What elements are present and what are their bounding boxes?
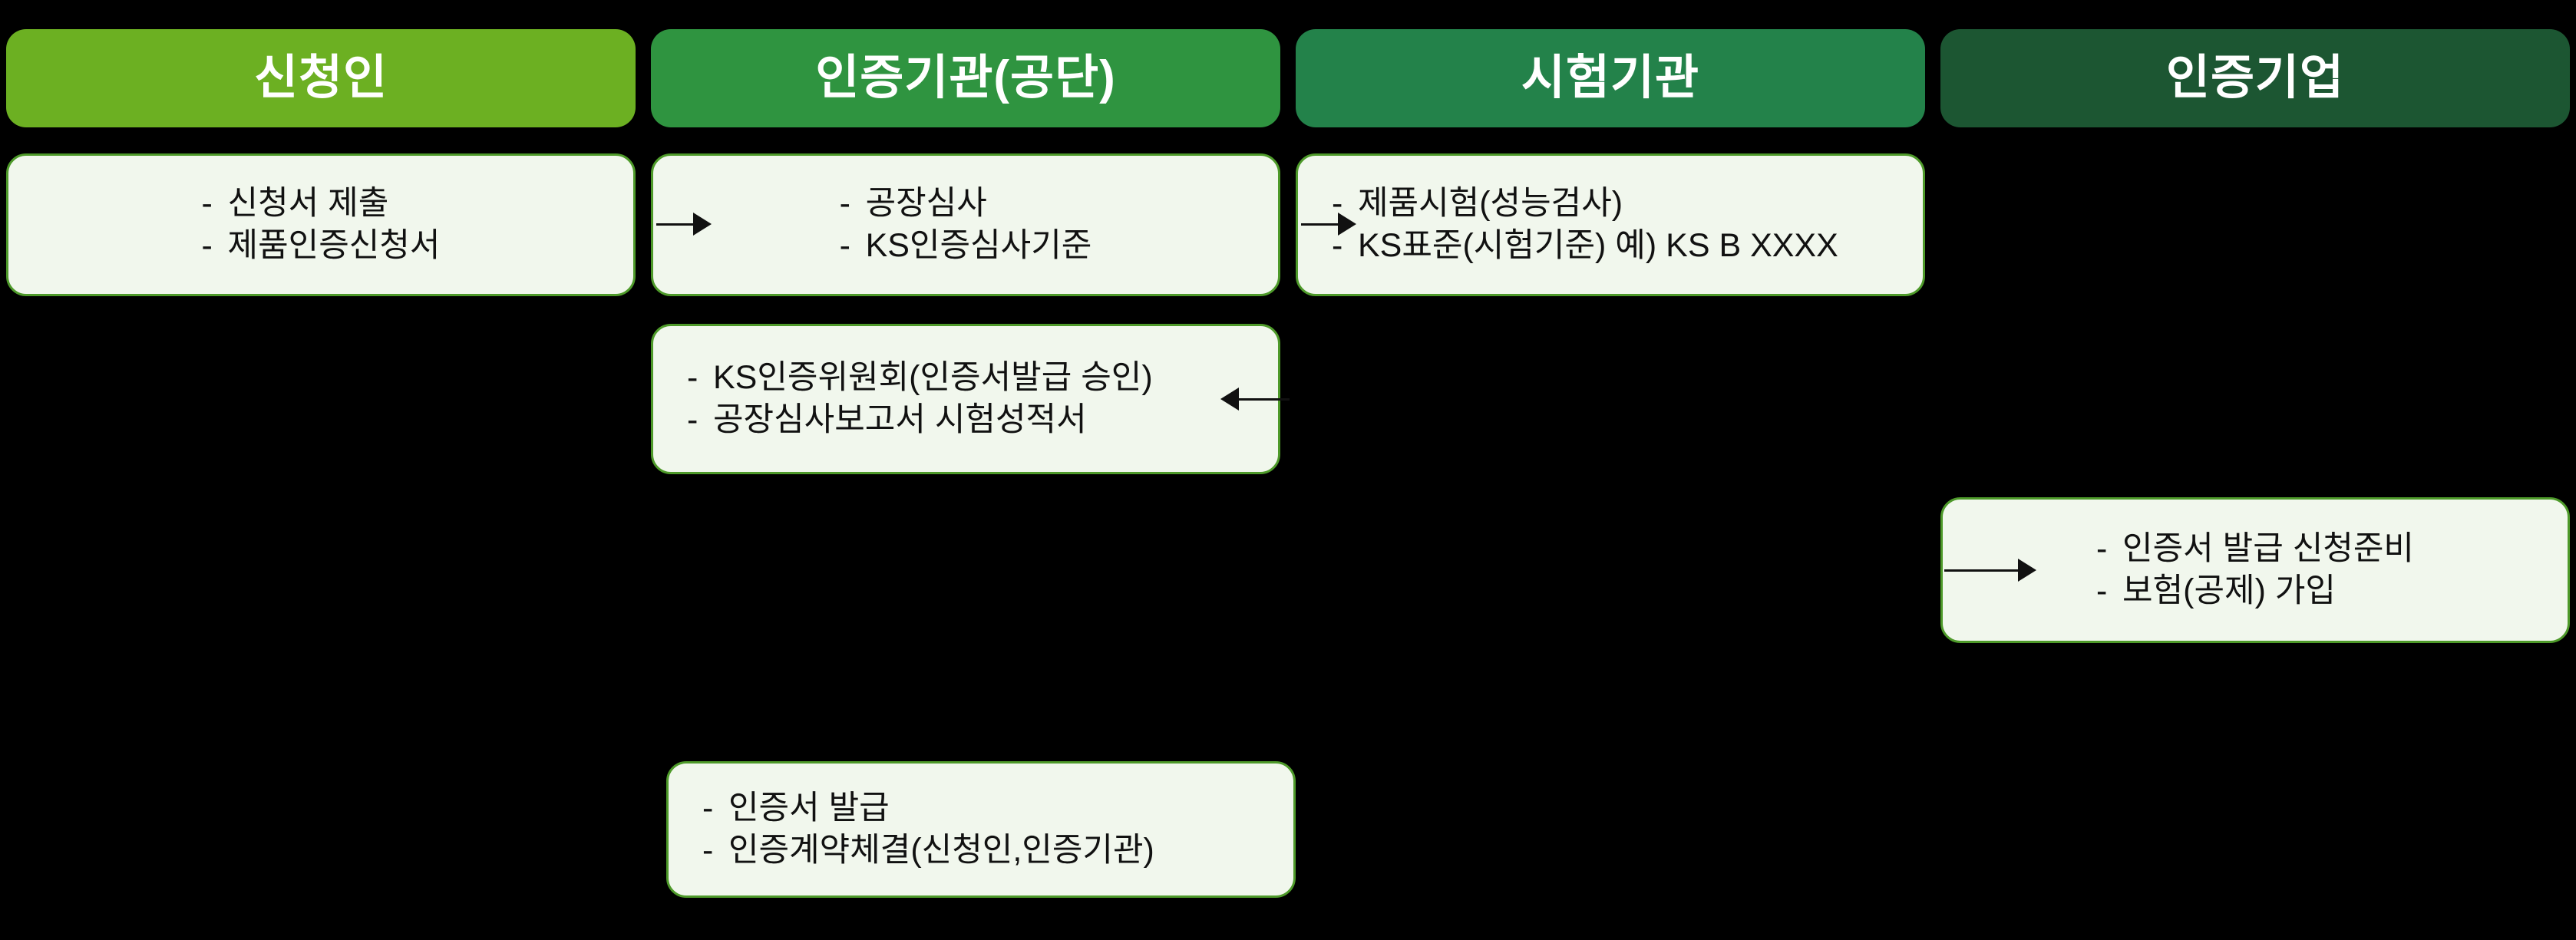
bullet-dash: -: [840, 183, 866, 225]
arrow-shaft: [1944, 569, 2018, 572]
arrow-right-icon-to-certificate-preparation: [1944, 555, 2036, 585]
bullet-dash: -: [2096, 528, 2122, 570]
arrow-head: [2018, 559, 2036, 582]
lane-header-applicant-label: 신청인: [254, 54, 388, 102]
card-certificate-issue-body: -인증서 발급 -인증계약체결(신청인,인증기관): [669, 787, 1293, 872]
bullet-dash: -: [702, 830, 728, 872]
list-item-text: KS인증위원회(인증서발급 승인): [713, 359, 1153, 396]
list-item-text: KS인증심사기준: [866, 227, 1092, 264]
list-item-text: KS표준(시험기준) 예) KS B XXXX: [1358, 227, 1838, 264]
lane-header-test-agency: 시험기관: [1296, 29, 1925, 127]
bullet-dash: -: [2096, 570, 2122, 612]
arrow-left-icon-test-to-committee: [1220, 384, 1290, 414]
bullet-dash: -: [202, 225, 228, 267]
lane-header-cert-company: 인증기업: [1940, 29, 2570, 127]
card-ks-committee: -KS인증위원회(인증서발급 승인) -공장심사보고서 시험성적서: [651, 324, 1280, 474]
bullet-dash: -: [202, 183, 228, 225]
list-item-text: 인증서 발급 신청준비: [2122, 530, 2414, 567]
arrow-shaft: [1239, 398, 1290, 401]
list-item: -공장심사보고서 시험성적서: [687, 399, 1087, 441]
bullet-dash: -: [687, 357, 713, 399]
list-item: -신청서 제출: [202, 183, 441, 225]
list-item-text: 제품인증신청서: [228, 227, 441, 264]
lane-header-applicant: 신청인: [6, 29, 636, 127]
card-application-submission-body: -신청서 제출 -제품인증신청서: [8, 183, 633, 267]
bullet-dash: -: [702, 787, 728, 830]
card-product-test-body: -제품시험(성능검사) -KS표준(시험기준) 예) KS B XXXX: [1298, 183, 1923, 267]
arrow-shaft: [656, 223, 693, 226]
list-item: -KS인증위원회(인증서발급 승인): [687, 357, 1153, 399]
arrow-right-icon-factory-to-test: [1301, 209, 1356, 239]
list-item: -공장심사: [840, 183, 1092, 225]
arrow-right-icon-applicant-to-factory: [656, 209, 712, 239]
card-factory-audit-body: -공장심사 -KS인증심사기준: [653, 183, 1278, 267]
list-item-text: 제품시험(성능검사): [1358, 185, 1623, 222]
card-application-submission: -신청서 제출 -제품인증신청서: [6, 153, 636, 296]
list-item: -인증계약체결(신청인,인증기관): [702, 830, 1154, 872]
arrow-head: [693, 213, 712, 236]
arrow-head: [1220, 388, 1239, 411]
list-item: -보험(공제) 가입: [2096, 570, 2414, 612]
card-factory-audit: -공장심사 -KS인증심사기준: [651, 153, 1280, 296]
list-item: -제품인증신청서: [202, 225, 441, 267]
card-product-test: -제품시험(성능검사) -KS표준(시험기준) 예) KS B XXXX: [1296, 153, 1925, 296]
list-item-text: 보험(공제) 가입: [2122, 572, 2336, 609]
list-item-text: 인증서 발급: [728, 790, 890, 826]
bullet-dash: -: [687, 399, 713, 441]
lane-header-test-agency-label: 시험기관: [1521, 54, 1699, 102]
list-item: -인증서 발급 신청준비: [2096, 528, 2414, 570]
lane-header-cert-company-label: 인증기업: [2166, 54, 2344, 102]
lane-header-cert-agency-label: 인증기관(공단): [815, 54, 1116, 102]
list-item-text: 신청서 제출: [228, 185, 389, 222]
list-item-text: 공장심사: [866, 185, 987, 222]
bullet-dash: -: [840, 225, 866, 267]
arrow-shaft: [1301, 223, 1338, 226]
list-item: -제품시험(성능검사): [1332, 183, 1623, 225]
list-item-text: 인증계약체결(신청인,인증기관): [728, 832, 1154, 869]
list-item: -KS표준(시험기준) 예) KS B XXXX: [1332, 225, 1838, 267]
arrow-head: [1338, 213, 1356, 236]
lane-header-cert-agency: 인증기관(공단): [651, 29, 1280, 127]
list-item: -KS인증심사기준: [840, 225, 1092, 267]
list-item-text: 공장심사보고서 시험성적서: [713, 401, 1087, 438]
diagram-canvas: 신청인 인증기관(공단) 시험기관 인증기업 -신청서 제출 -제품인증신청서: [0, 0, 2576, 940]
card-certificate-preparation-body: -인증서 발급 신청준비 -보험(공제) 가입: [1943, 528, 2568, 612]
card-certificate-issue: -인증서 발급 -인증계약체결(신청인,인증기관): [666, 761, 1296, 898]
list-item: -인증서 발급: [702, 787, 890, 830]
card-ks-committee-body: -KS인증위원회(인증서발급 승인) -공장심사보고서 시험성적서: [653, 357, 1278, 441]
